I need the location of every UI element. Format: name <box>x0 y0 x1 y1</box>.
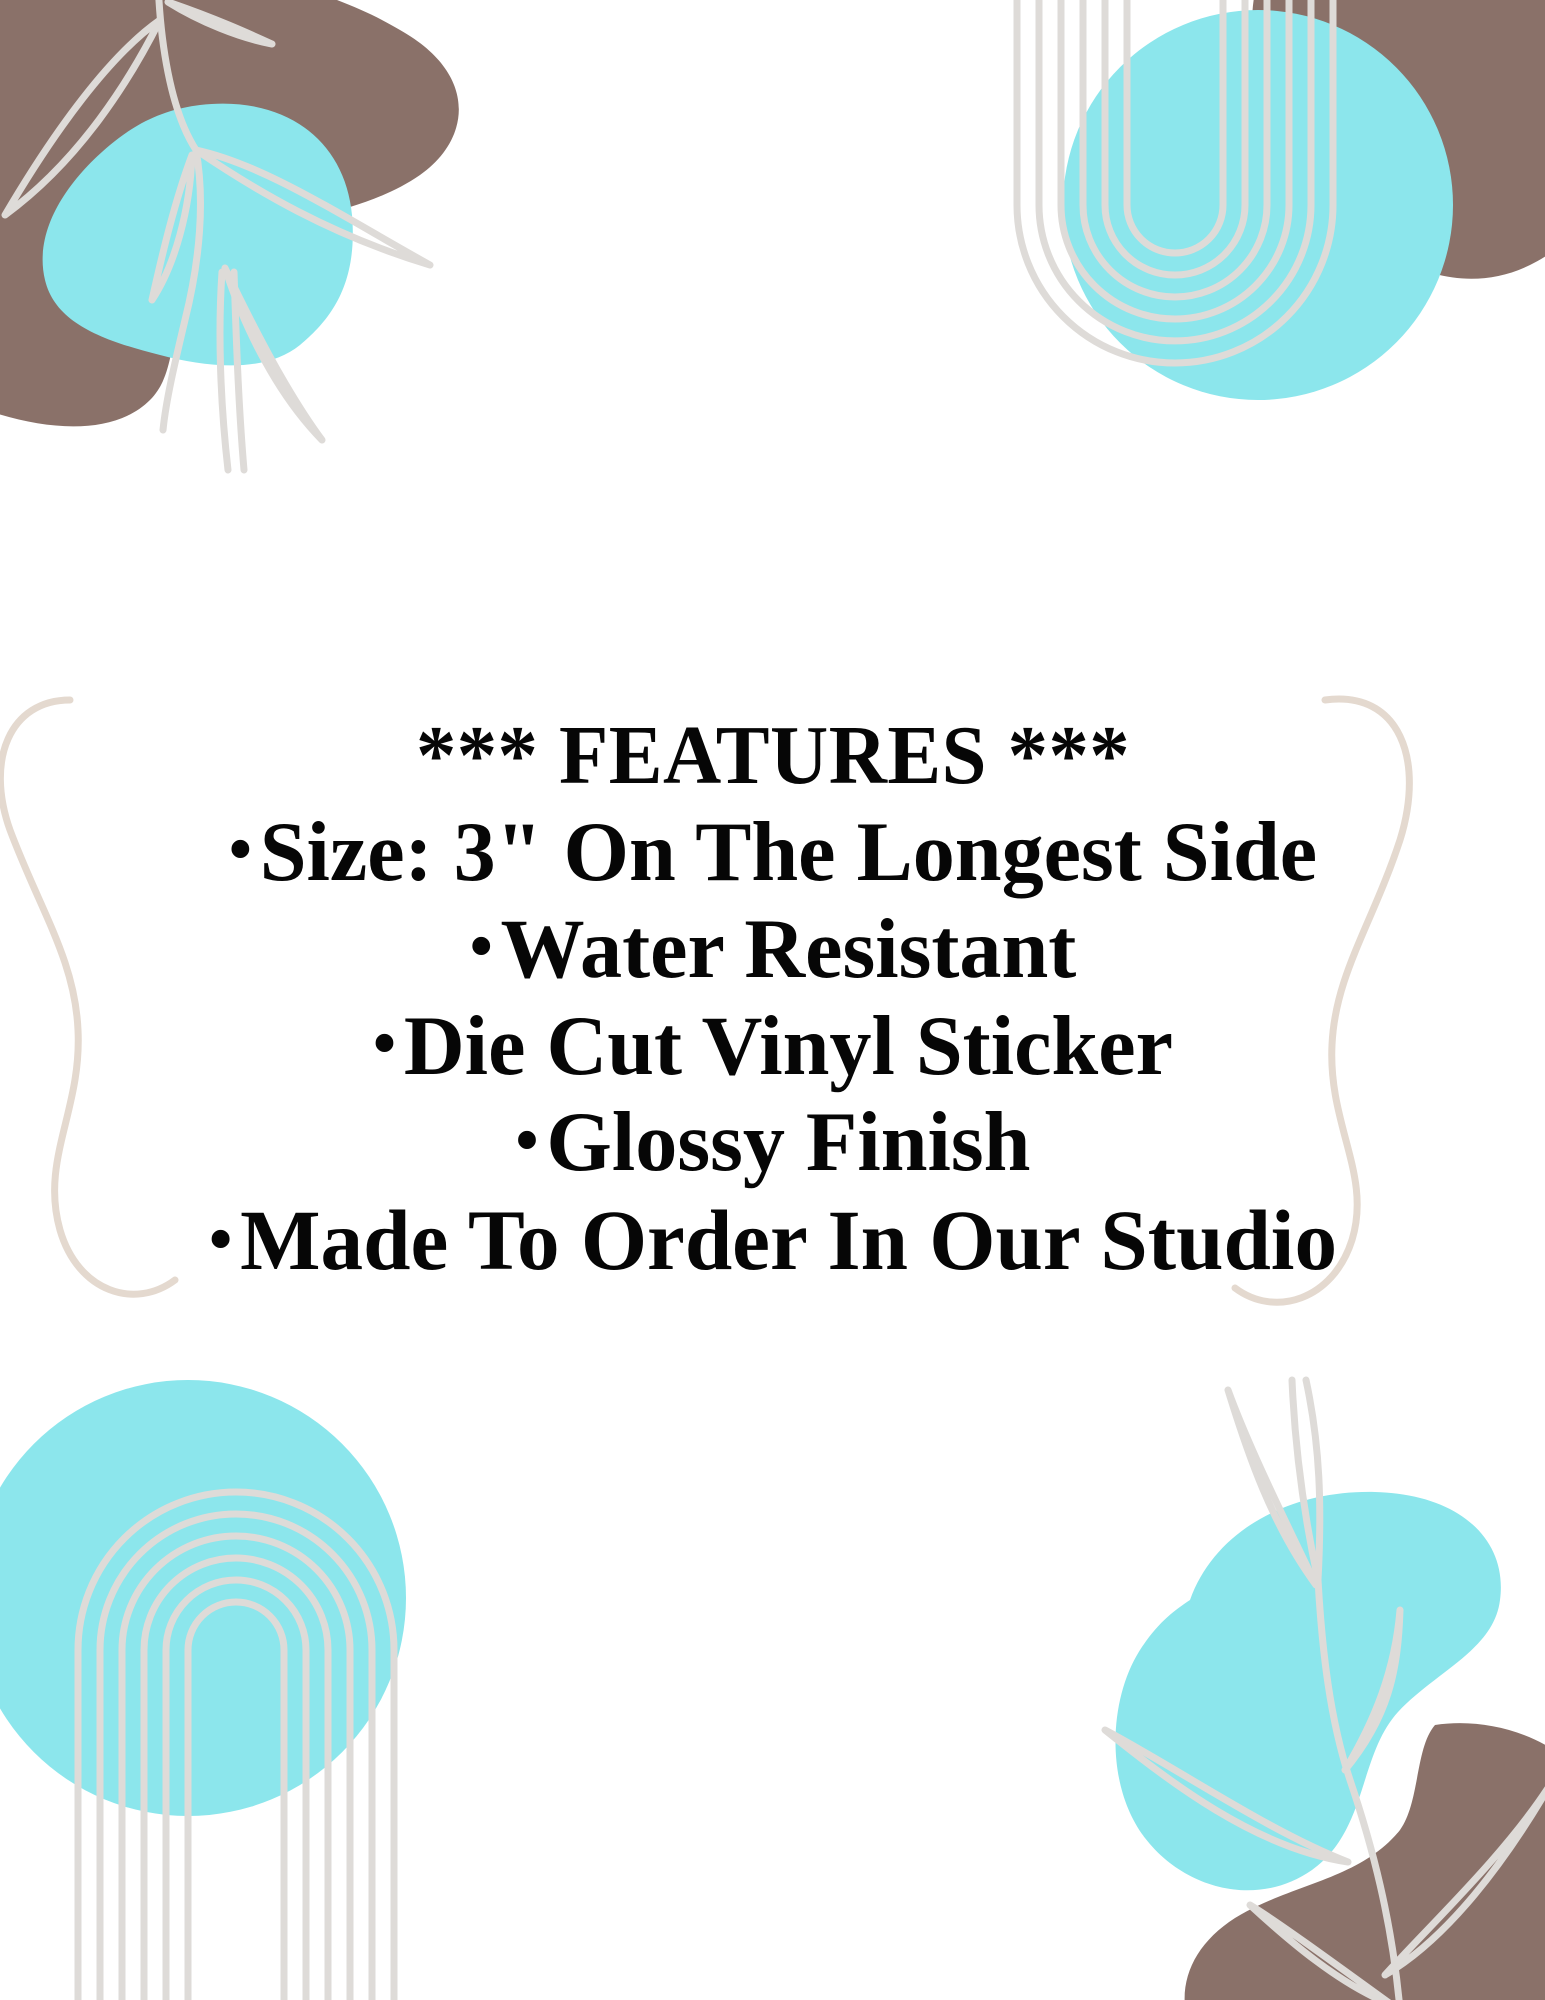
feature-item-size: •Size: 3" On The Longest Side <box>25 804 1520 901</box>
feature-item-glossy-finish: •Glossy Finish <box>25 1094 1520 1191</box>
feature-label: Made To Order In Our Studio <box>240 1192 1337 1288</box>
page-title: *** FEATURES *** <box>48 711 1498 800</box>
bullet-icon: • <box>228 812 251 888</box>
bullet-icon: • <box>373 1006 396 1082</box>
feature-item-made-to-order: •Made To Order In Our Studio <box>25 1191 1520 1289</box>
bullet-icon: • <box>515 1103 538 1179</box>
poster-canvas: *** FEATURES *** •Size: 3" On The Longes… <box>0 0 1545 2000</box>
features-block: *** FEATURES *** •Size: 3" On The Longes… <box>18 711 1528 1290</box>
feature-label: Water Resistant <box>500 902 1076 996</box>
bullet-icon: • <box>469 909 492 985</box>
bullet-icon: • <box>208 1201 231 1277</box>
feature-item-water-resistant: •Water Resistant <box>25 901 1520 998</box>
feature-label: Glossy Finish <box>546 1095 1030 1189</box>
feature-label: Die Cut Vinyl Sticker <box>403 999 1172 1093</box>
poster-content: *** FEATURES *** •Size: 3" On The Longes… <box>0 0 1545 2000</box>
feature-label: Size: 3" On The Longest Side <box>259 805 1316 899</box>
feature-item-die-cut-vinyl: •Die Cut Vinyl Sticker <box>25 998 1520 1095</box>
